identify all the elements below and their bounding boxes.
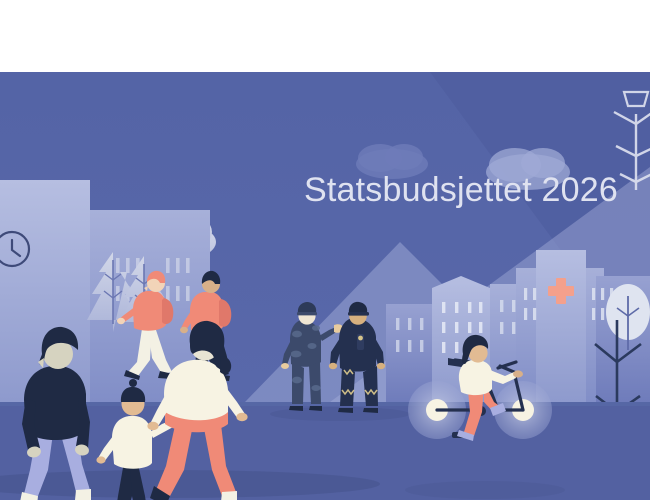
cloud-center [356, 144, 428, 179]
hero-illustration: Statsbudsjettet 2026 [0, 72, 650, 500]
city-scene-svg [0, 72, 650, 500]
white-header-band [0, 0, 650, 72]
ground [0, 402, 650, 500]
page-root: Statsbudsjettet 2026 [0, 0, 650, 500]
cloud-right [486, 148, 570, 190]
